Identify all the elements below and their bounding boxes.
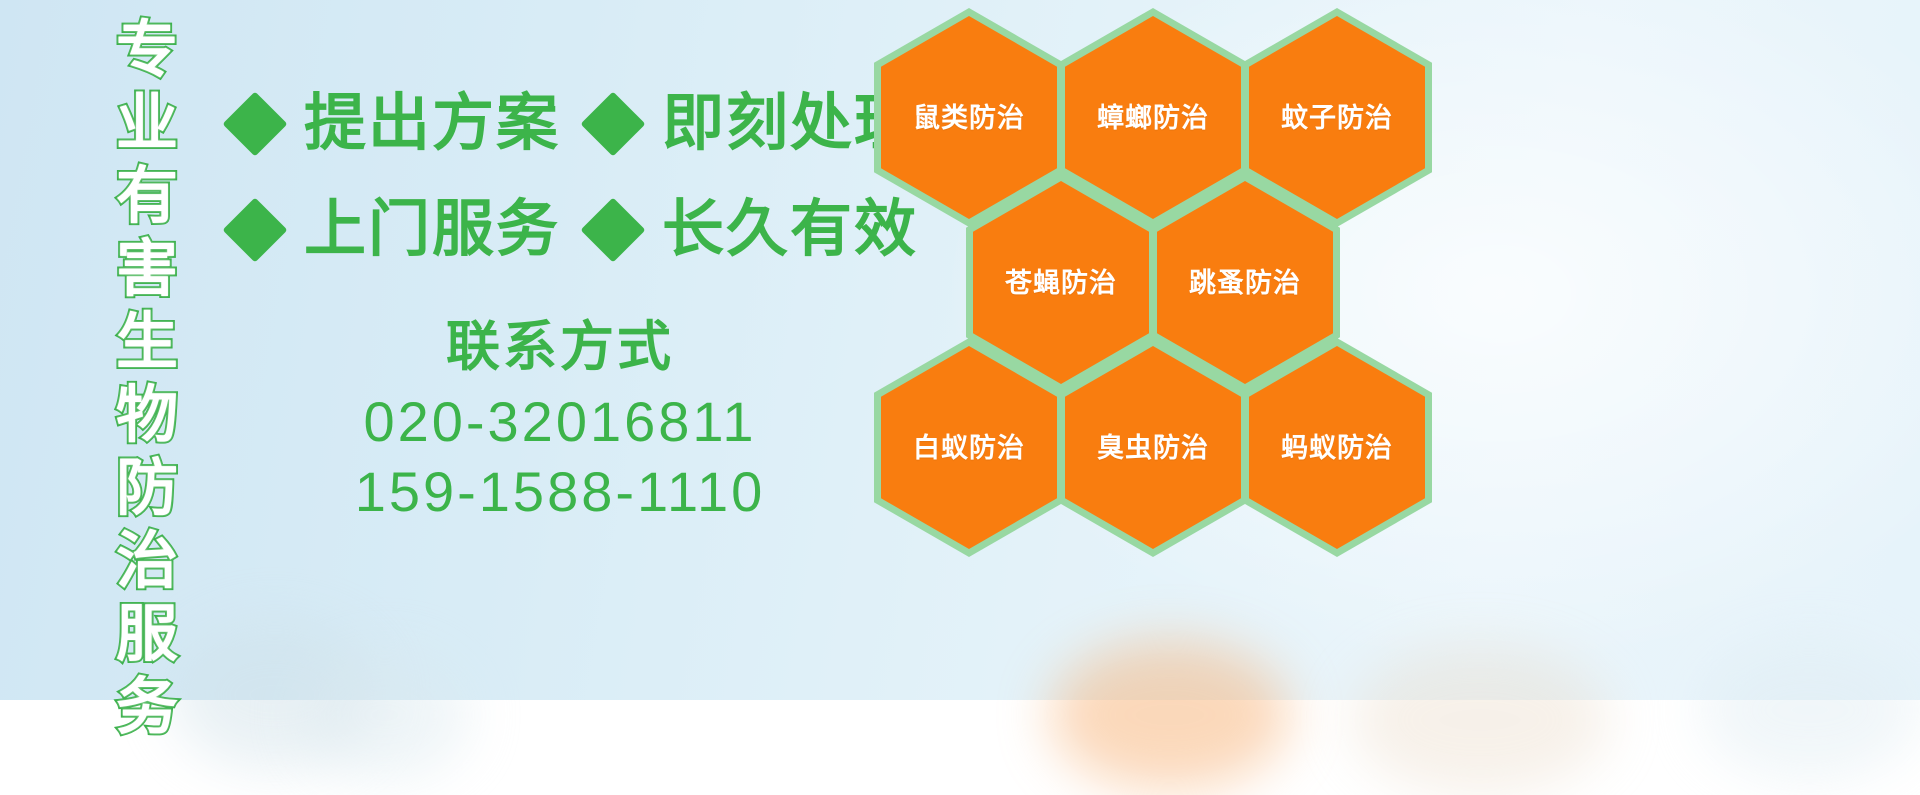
phone-number-mobile[interactable]: 159-1588-1110 — [300, 457, 820, 527]
vertical-headline-char: 物 — [116, 379, 178, 452]
hex-inner: 蟑螂防治 — [1065, 16, 1241, 219]
service-hex-label: 白蚁防治 — [913, 433, 1025, 463]
feature-label: 提出方案 — [304, 88, 560, 160]
background-blob — [1700, 640, 1920, 780]
feature-item: 提出方案 — [232, 88, 560, 160]
background-blob — [1050, 640, 1290, 790]
hex-inner: 跳蚤防治 — [1157, 181, 1333, 384]
diamond-bullet-icon — [222, 197, 287, 262]
service-hex-label: 鼠类防治 — [913, 103, 1025, 133]
hex-inner: 鼠类防治 — [881, 16, 1057, 219]
vertical-headline-char: 有 — [116, 160, 178, 233]
hex-inner: 蚊子防治 — [1249, 16, 1425, 219]
vertical-headline-char: 治 — [116, 525, 178, 598]
contact-label: 联系方式 — [300, 315, 820, 379]
phone-number-landline[interactable]: 020-32016811 — [300, 387, 820, 457]
hex-inner: 臭虫防治 — [1065, 346, 1241, 549]
vertical-headline: 专 业 有 害 生 物 防 治 服 务 — [103, 14, 191, 686]
service-hex-label: 臭虫防治 — [1097, 433, 1209, 463]
diamond-bullet-icon — [580, 197, 645, 262]
hex-inner: 苍蝇防治 — [973, 181, 1149, 384]
hex-inner: 蚂蚁防治 — [1249, 346, 1425, 549]
service-honeycomb: 鼠类防治 蟑螂防治 蚊子防治 苍蝇防治 跳蚤防治 白蚁防治 臭虫防治 蚂蚁防治 — [860, 0, 1480, 560]
vertical-headline-char: 业 — [116, 87, 178, 160]
background-blob — [1350, 645, 1610, 795]
pest-control-banner: 专 业 有 害 生 物 防 治 服 务 提出方案 即刻处理 上门服务 长久有效 — [0, 0, 1920, 700]
service-hex-label: 蟑螂防治 — [1097, 103, 1209, 133]
feature-item: 上门服务 — [232, 194, 560, 266]
background-blob — [170, 620, 380, 770]
feature-row-2: 上门服务 长久有效 — [232, 194, 918, 266]
vertical-headline-char: 服 — [116, 598, 178, 671]
vertical-headline-char: 务 — [116, 671, 178, 744]
feature-row-1: 提出方案 即刻处理 — [232, 88, 918, 160]
vertical-headline-char: 生 — [116, 306, 178, 379]
feature-label: 上门服务 — [304, 194, 560, 266]
diamond-bullet-icon — [580, 91, 645, 156]
background-blob — [300, 650, 470, 780]
contact-block: 联系方式 020-32016811 159-1588-1110 — [300, 315, 820, 527]
service-hex-label: 苍蝇防治 — [1005, 268, 1117, 298]
hex-inner: 白蚁防治 — [881, 346, 1057, 549]
vertical-headline-char: 害 — [116, 233, 178, 306]
diamond-bullet-icon — [222, 91, 287, 156]
vertical-headline-char: 专 — [116, 14, 178, 87]
vertical-headline-char: 防 — [116, 452, 178, 525]
service-hex-label: 跳蚤防治 — [1189, 268, 1301, 298]
service-hex-label: 蚂蚁防治 — [1281, 433, 1393, 463]
service-hex-label: 蚊子防治 — [1281, 103, 1393, 133]
